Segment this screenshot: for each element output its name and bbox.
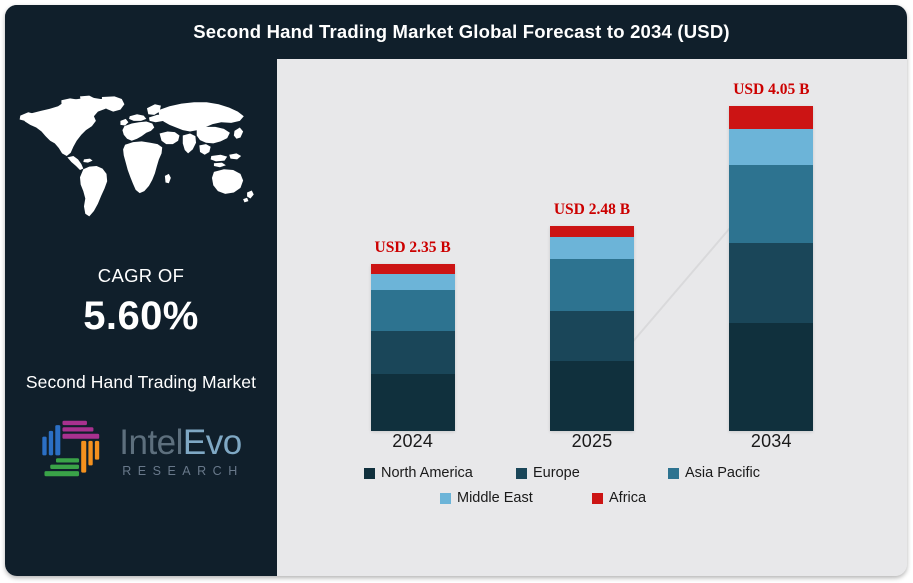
bar-stack-2025[interactable] xyxy=(550,226,634,431)
legend-item-europe[interactable]: Europe xyxy=(516,465,668,481)
bar-group-2034: USD 4.05 B xyxy=(711,81,831,431)
bar-total-label-2034: USD 4.05 B xyxy=(733,81,809,99)
legend-label: North America xyxy=(381,465,473,481)
legend-item-africa[interactable]: Africa xyxy=(592,490,744,506)
bar-segment-europe[interactable] xyxy=(729,243,813,323)
legend-label: Africa xyxy=(609,490,646,506)
bar-segment-asia-pacific[interactable] xyxy=(550,259,634,311)
bar-segment-europe[interactable] xyxy=(371,331,455,374)
market-name-label: Second Hand Trading Market xyxy=(26,372,256,393)
brand-logo: IntelEvo RESEARCH xyxy=(38,415,243,487)
bar-stack-2024[interactable] xyxy=(371,264,455,431)
x-axis-label-2025: 2025 xyxy=(532,431,652,465)
bar-segment-africa[interactable] xyxy=(371,264,455,274)
bar-group-2025: USD 2.48 B xyxy=(532,201,652,431)
x-axis-label-2034: 2034 xyxy=(711,431,831,465)
legend-row-2: Middle EastAfrica xyxy=(277,490,907,506)
bar-stack-2034[interactable] xyxy=(729,106,813,431)
bar-segment-north-america[interactable] xyxy=(729,323,813,431)
cagr-value: 5.60% xyxy=(83,294,198,339)
legend-item-middle-east[interactable]: Middle East xyxy=(440,490,592,506)
legend-swatch-icon xyxy=(668,468,679,479)
intelevo-pinwheel-logo-icon xyxy=(38,415,110,487)
bar-segment-north-america[interactable] xyxy=(550,361,634,431)
bar-total-label-2024: USD 2.35 B xyxy=(375,239,451,257)
bar-series-container: USD 2.35 BUSD 2.48 BUSD 4.05 B xyxy=(277,59,907,431)
logo-tagline: RESEARCH xyxy=(119,465,243,478)
bar-segment-middle-east[interactable] xyxy=(550,237,634,259)
infographic-frame: CAGR OF 5.60% Second Hand Trading Market xyxy=(5,5,907,576)
plot-area: USD 2.35 BUSD 2.48 BUSD 4.05 B 202420252… xyxy=(277,59,907,576)
bar-segment-asia-pacific[interactable] xyxy=(729,165,813,243)
bar-segment-north-america[interactable] xyxy=(371,374,455,431)
bar-segment-africa[interactable] xyxy=(729,106,813,129)
legend-swatch-icon xyxy=(440,493,451,504)
legend-row-1: North AmericaEuropeAsia Pacific xyxy=(277,465,907,481)
legend-item-north-america[interactable]: North America xyxy=(364,465,516,481)
sidebar-panel: CAGR OF 5.60% Second Hand Trading Market xyxy=(5,5,277,576)
legend-swatch-icon xyxy=(592,493,603,504)
legend-swatch-icon xyxy=(364,468,375,479)
legend-label: Asia Pacific xyxy=(685,465,760,481)
chart-panel: Second Hand Trading Market Global Foreca… xyxy=(277,5,907,576)
legend-label: Middle East xyxy=(457,490,533,506)
bar-segment-africa[interactable] xyxy=(550,226,634,237)
legend-swatch-icon xyxy=(516,468,527,479)
chart-legend: North AmericaEuropeAsia Pacific Middle E… xyxy=(277,465,907,515)
x-axis-labels: 202420252034 xyxy=(277,431,907,465)
legend-label: Europe xyxy=(533,465,580,481)
bar-total-label-2025: USD 2.48 B xyxy=(554,201,630,219)
x-axis-label-2024: 2024 xyxy=(353,431,473,465)
bar-segment-middle-east[interactable] xyxy=(729,129,813,165)
header-bar: Second Hand Trading Market Global Foreca… xyxy=(5,5,907,59)
logo-name-part2: Evo xyxy=(183,423,242,462)
logo-name-part1: Intel xyxy=(119,423,183,462)
bar-group-2024: USD 2.35 B xyxy=(353,239,473,431)
legend-item-asia-pacific[interactable]: Asia Pacific xyxy=(668,465,820,481)
bar-segment-asia-pacific[interactable] xyxy=(371,290,455,331)
cagr-caption: CAGR OF xyxy=(98,265,184,287)
infographic-root: CAGR OF 5.60% Second Hand Trading Market xyxy=(0,0,913,583)
bar-segment-middle-east[interactable] xyxy=(371,274,455,290)
bar-segment-europe[interactable] xyxy=(550,311,634,361)
world-map-icon xyxy=(15,93,267,225)
page-title: Second Hand Trading Market Global Foreca… xyxy=(193,21,730,43)
